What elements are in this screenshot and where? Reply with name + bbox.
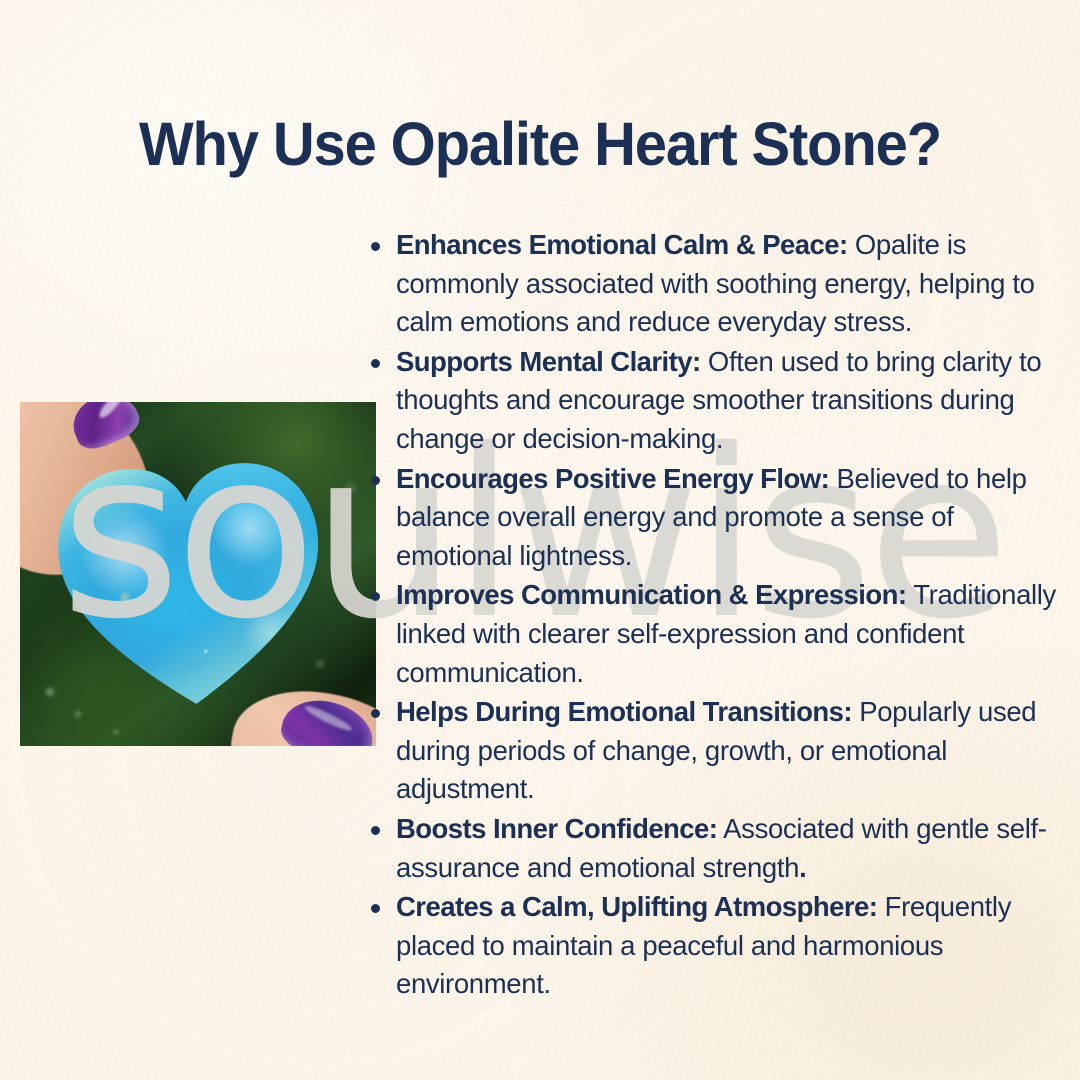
- heart-stone: [50, 447, 331, 713]
- benefit-title: Helps During Emotional Transitions:: [396, 696, 852, 727]
- bullet-dot-icon: [371, 826, 380, 835]
- bullet-dot-icon: [371, 592, 380, 601]
- benefits-list: Enhances Emotional Calm & Peace: Opalite…: [362, 226, 1062, 1005]
- benefit-item: Improves Communication & Expression: Tra…: [362, 576, 1062, 692]
- bullet-dot-icon: [371, 476, 380, 485]
- benefit-item: Creates a Calm, Uplifting Atmosphere: Fr…: [362, 888, 1062, 1004]
- benefit-trailing-punctuation: .: [799, 852, 806, 883]
- benefit-item: Enhances Emotional Calm & Peace: Opalite…: [362, 226, 1062, 342]
- bullet-dot-icon: [371, 904, 380, 913]
- nail-shine-icon: [303, 703, 354, 734]
- heart-specular-highlights: [50, 447, 331, 713]
- benefit-title: Enhances Emotional Calm & Peace:: [396, 229, 848, 260]
- benefit-title: Encourages Positive Energy Flow:: [396, 463, 829, 494]
- bullet-dot-icon: [371, 359, 380, 368]
- benefit-item: Helps During Emotional Transitions: Popu…: [362, 693, 1062, 809]
- benefit-title: Creates a Calm, Uplifting Atmosphere:: [396, 891, 877, 922]
- bullet-dot-icon: [371, 709, 380, 718]
- benefit-title: Supports Mental Clarity:: [396, 346, 701, 377]
- bullet-dot-icon: [371, 242, 380, 251]
- benefit-title: Improves Communication & Expression:: [396, 579, 906, 610]
- benefit-item: Supports Mental Clarity: Often used to b…: [362, 343, 1062, 459]
- benefit-item: Boosts Inner Confidence: Associated with…: [362, 810, 1062, 887]
- infographic-canvas: soulwise Why Use Opalite Heart Stone? En…: [0, 0, 1080, 1080]
- page-title: Why Use Opalite Heart Stone?: [27, 107, 1053, 181]
- opalite-heart-stone-photo: [20, 402, 376, 746]
- benefit-title: Boosts Inner Confidence:: [396, 813, 717, 844]
- benefit-item: Encourages Positive Energy Flow: Believe…: [362, 460, 1062, 576]
- nail-shine-icon: [96, 402, 124, 421]
